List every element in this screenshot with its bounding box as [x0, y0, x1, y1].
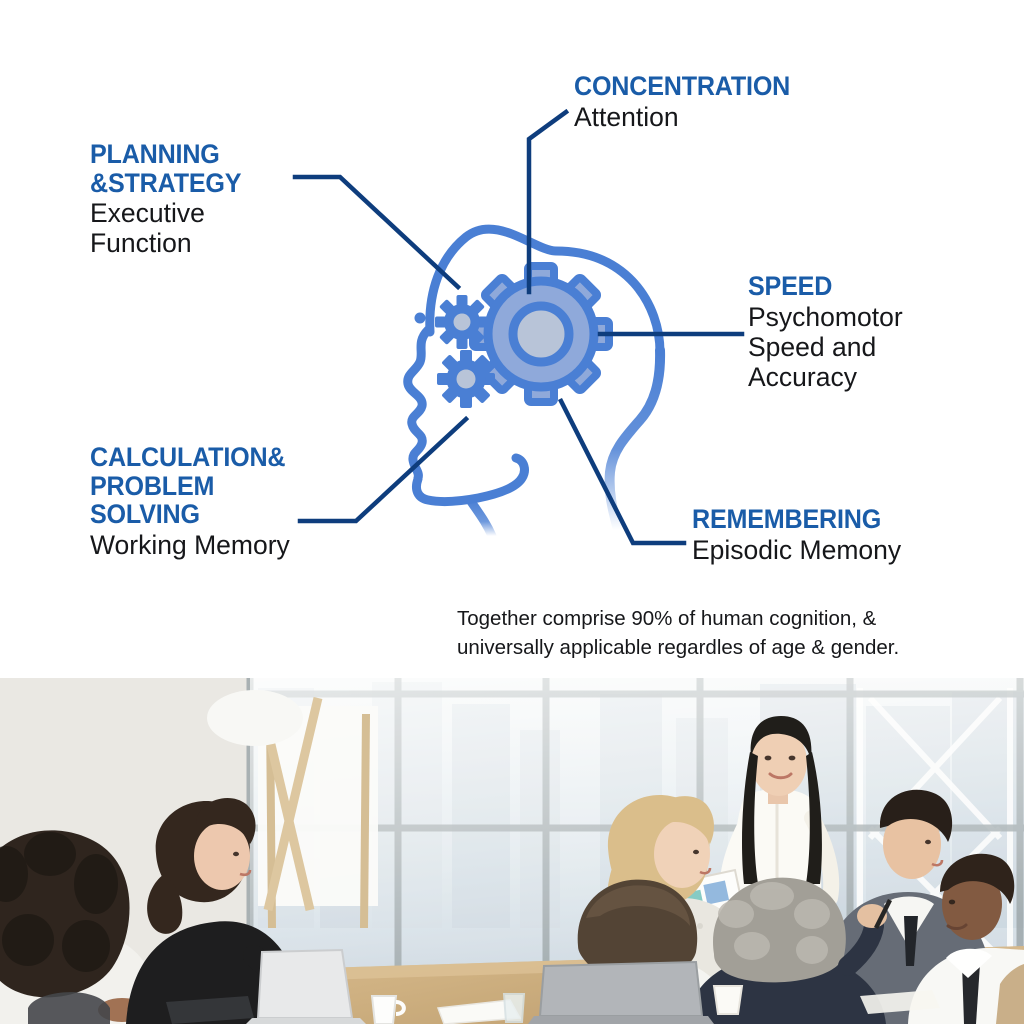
- label-calculation-title: CALCULATION& PROBLEM SOLVING: [90, 443, 388, 529]
- label-speed: SPEED Psychomotor Speed and Accuracy: [748, 272, 1008, 392]
- footer-note: Together comprise 90% of human cognition…: [457, 604, 977, 662]
- label-planning-subtitle: Executive Function: [90, 198, 390, 258]
- label-calculation-problem-solving: CALCULATION& PROBLEM SOLVING Working Mem…: [90, 443, 410, 560]
- label-concentration: CONCENTRATION Attention: [574, 72, 904, 132]
- label-concentration-title: CONCENTRATION: [574, 72, 881, 101]
- label-remembering-subtitle: Episodic Memony: [692, 535, 1012, 565]
- leader-line-concentration: [529, 112, 566, 292]
- photo-illustration: [0, 678, 1024, 1024]
- label-concentration-subtitle: Attention: [574, 102, 904, 132]
- label-calculation-subtitle: Working Memory: [90, 530, 410, 560]
- label-speed-subtitle: Psychomotor Speed and Accuracy: [748, 302, 1008, 393]
- infographic-page: PLANNING &STRATEGY Executive Function CO…: [0, 0, 1024, 1024]
- boardroom-meeting-photo: [0, 678, 1024, 1024]
- label-speed-title: SPEED: [748, 272, 990, 301]
- label-planning-strategy: PLANNING &STRATEGY Executive Function: [90, 140, 390, 259]
- label-remembering-title: REMEMBERING: [692, 505, 990, 534]
- cognition-diagram-panel: PLANNING &STRATEGY Executive Function CO…: [0, 0, 1024, 678]
- leader-line-remembering: [561, 401, 684, 543]
- label-remembering: REMEMBERING Episodic Memony: [692, 505, 1012, 565]
- label-planning-title: PLANNING &STRATEGY: [90, 140, 369, 197]
